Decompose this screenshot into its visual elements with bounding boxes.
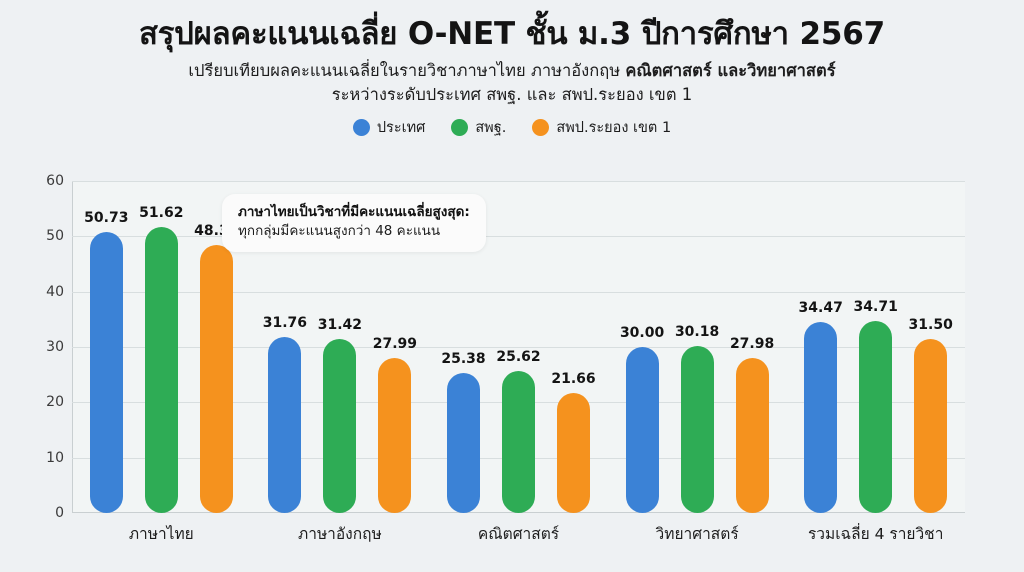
bar[interactable] <box>200 245 233 513</box>
bar-slot: 30.00 <box>626 181 659 513</box>
annotation-body: ทุกกลุ่มมีคะแนนสูงกว่า 48 คะแนน <box>238 222 470 241</box>
x-axis-category-label: วิทยาศาสตร์ <box>656 521 739 546</box>
legend-item[interactable]: สพป.ระยอง เขต 1 <box>532 116 671 139</box>
bar[interactable] <box>681 346 714 513</box>
bar[interactable] <box>626 347 659 513</box>
bar-slot: 30.18 <box>681 181 714 513</box>
bar-value-label: 25.38 <box>441 351 485 367</box>
bar-group: 30.0030.1827.98 <box>608 181 787 513</box>
legend-swatch-circle-icon <box>532 119 549 136</box>
legend-item[interactable]: ประเทศ <box>353 116 426 139</box>
x-axis-category-label: ภาษาไทย <box>129 521 194 546</box>
chart-legend: ประเทศสพฐ.สพป.ระยอง เขต 1 <box>0 116 1024 139</box>
chart-subtitle-line-1: เปรียบเทียบผลคะแนนเฉลี่ยในรายวิชาภาษาไทย… <box>0 59 1024 83</box>
legend-swatch-circle-icon <box>353 119 370 136</box>
bar-value-label: 34.71 <box>854 299 898 315</box>
annotation-callout: ภาษาไทยเป็นวิชาที่มีคะแนนเฉลี่ยสูงสุด: ท… <box>222 194 486 252</box>
chart-plot-container: 0102030405060 50.7351.6248.3531.7631.422… <box>0 173 1024 572</box>
bar-slot: 27.98 <box>736 181 769 513</box>
bar[interactable] <box>447 373 480 513</box>
bar[interactable] <box>914 339 947 513</box>
bar-value-label: 30.00 <box>620 325 664 341</box>
bar-value-label: 51.62 <box>139 205 183 221</box>
bar[interactable] <box>859 321 892 513</box>
x-axis-category-label: ภาษาอังกฤษ <box>298 521 382 546</box>
bar-value-label: 31.50 <box>909 317 953 333</box>
y-axis-tick-label: 20 <box>8 394 64 410</box>
y-axis-tick-label: 10 <box>8 450 64 466</box>
bar-slot: 34.71 <box>859 181 892 513</box>
y-axis-tick-label: 40 <box>8 284 64 300</box>
bar-value-label: 27.98 <box>730 336 774 352</box>
bar[interactable] <box>502 371 535 513</box>
bar-slot: 31.50 <box>914 181 947 513</box>
legend-label: สพป.ระยอง เขต 1 <box>556 116 671 139</box>
bar[interactable] <box>268 337 301 513</box>
y-axis-tick-label: 30 <box>8 339 64 355</box>
bar-value-label: 34.47 <box>799 300 843 316</box>
bar[interactable] <box>145 227 178 513</box>
x-axis-category-label: คณิตศาสตร์ <box>478 521 559 546</box>
bar-value-label: 31.76 <box>263 315 307 331</box>
bar-value-label: 30.18 <box>675 324 719 340</box>
bar-value-label: 50.73 <box>84 210 128 226</box>
bar-slot: 50.73 <box>90 181 123 513</box>
bar-slot: 34.47 <box>804 181 837 513</box>
bar-value-label: 25.62 <box>496 349 540 365</box>
legend-item[interactable]: สพฐ. <box>451 116 506 139</box>
bar[interactable] <box>736 358 769 513</box>
bar-slot: 25.62 <box>502 181 535 513</box>
bar[interactable] <box>557 393 590 513</box>
bar[interactable] <box>804 322 837 513</box>
x-axis-category-label: รวมเฉลี่ย 4 รายวิชา <box>808 521 943 546</box>
bar-group: 34.4734.7131.50 <box>786 181 965 513</box>
y-axis-tick-label: 0 <box>8 505 64 521</box>
bar-slot: 51.62 <box>145 181 178 513</box>
legend-label: สพฐ. <box>475 116 506 139</box>
subtitle-normal-text: เปรียบเทียบผลคะแนนเฉลี่ยในรายวิชาภาษาไทย… <box>188 61 625 80</box>
chart-subtitle-line-2: ระหว่างระดับประเทศ สพฐ. และ สพป.ระยอง เข… <box>0 83 1024 107</box>
chart-header: สรุปผลคะแนนเฉลี่ย O-NET ชั้น ม.3 ปีการศึ… <box>0 0 1024 106</box>
bar[interactable] <box>378 358 411 513</box>
bar-slot: 21.66 <box>557 181 590 513</box>
y-axis-tick-label: 50 <box>8 228 64 244</box>
bar[interactable] <box>90 232 123 513</box>
y-axis-tick-label: 60 <box>8 173 64 189</box>
legend-swatch-circle-icon <box>451 119 468 136</box>
bar-value-label: 27.99 <box>373 336 417 352</box>
legend-label: ประเทศ <box>377 116 426 139</box>
subtitle-bold-text: คณิตศาสตร์ และวิทยาศาสตร์ <box>625 61 835 80</box>
bar[interactable] <box>323 339 356 513</box>
page-title: สรุปผลคะแนนเฉลี่ย O-NET ชั้น ม.3 ปีการศึ… <box>0 16 1024 53</box>
bar-value-label: 21.66 <box>551 371 595 387</box>
annotation-title: ภาษาไทยเป็นวิชาที่มีคะแนนเฉลี่ยสูงสุด: <box>238 203 470 221</box>
bar-value-label: 31.42 <box>318 317 362 333</box>
